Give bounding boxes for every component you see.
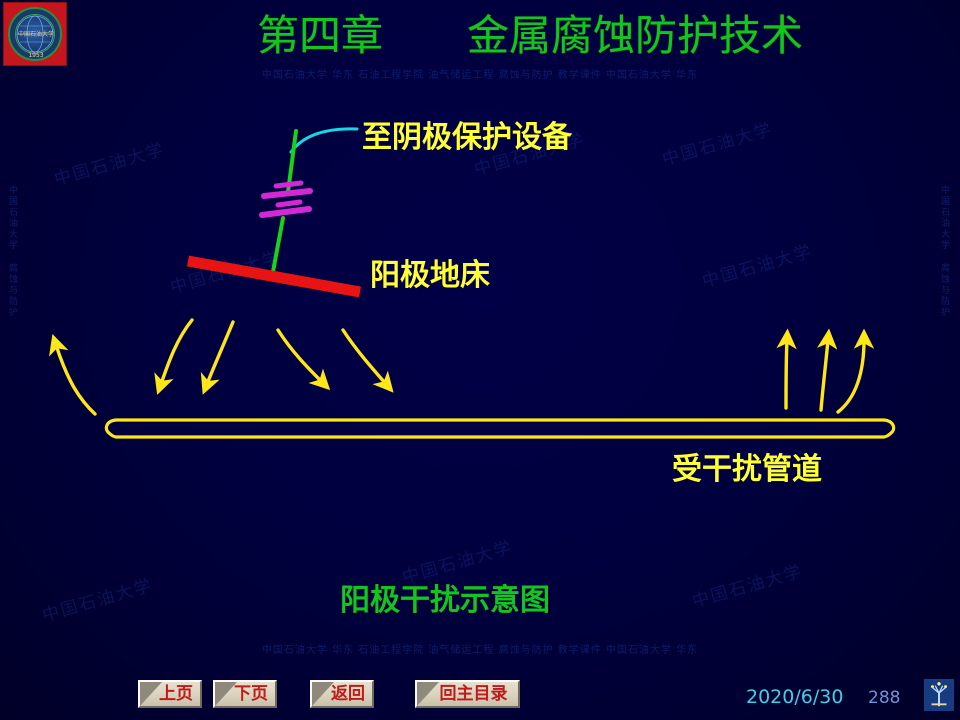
label-pipeline: 受干扰管道 [672, 444, 822, 488]
current-arrow-out-2 [821, 340, 828, 410]
cyan-pointer-curve [291, 129, 357, 152]
previous-page-button[interactable]: 上页 [138, 680, 202, 708]
pipeline-right-cap [884, 420, 894, 437]
battery-symbol [262, 183, 310, 215]
label-cp-equipment: 至阴极保护设备 [362, 112, 572, 156]
main-menu-label: 回主目录 [428, 684, 508, 704]
slide-canvas: 中国石油大学 华东 石油工程学院 油气储运工程 腐蚀与防护 教学课件 中国石油大… [0, 0, 960, 720]
main-menu-button[interactable]: 回主目录 [415, 680, 520, 708]
current-arrow-out-1 [786, 340, 787, 408]
current-arrow-in-4 [343, 330, 386, 384]
back-button[interactable]: 返回 [310, 680, 374, 708]
current-arrow-return [56, 345, 95, 414]
figure-caption: 阳极干扰示意图 [340, 575, 550, 619]
pipeline-left-cap [106, 420, 116, 437]
pipeline [106, 420, 893, 437]
current-arrows-outflow [786, 340, 864, 412]
back-label: 返回 [319, 684, 365, 704]
next-page-button[interactable]: 下页 [213, 680, 277, 708]
next-page-label: 下页 [222, 684, 268, 704]
current-arrow-out-3 [838, 340, 864, 412]
lead-wire-lower [272, 218, 283, 277]
current-arrow-in-2 [207, 322, 233, 384]
previous-page-label: 上页 [147, 684, 193, 704]
footer-page-number: 288 [868, 688, 900, 708]
current-arrow-in-3 [278, 330, 322, 382]
footer-date: 2020/6/30 [746, 686, 843, 708]
label-anode-bed: 阳极地床 [370, 250, 490, 294]
current-arrows-inflow [161, 320, 386, 384]
decorative-emblem-icon [924, 679, 954, 711]
current-arrow-in-1 [161, 320, 192, 384]
